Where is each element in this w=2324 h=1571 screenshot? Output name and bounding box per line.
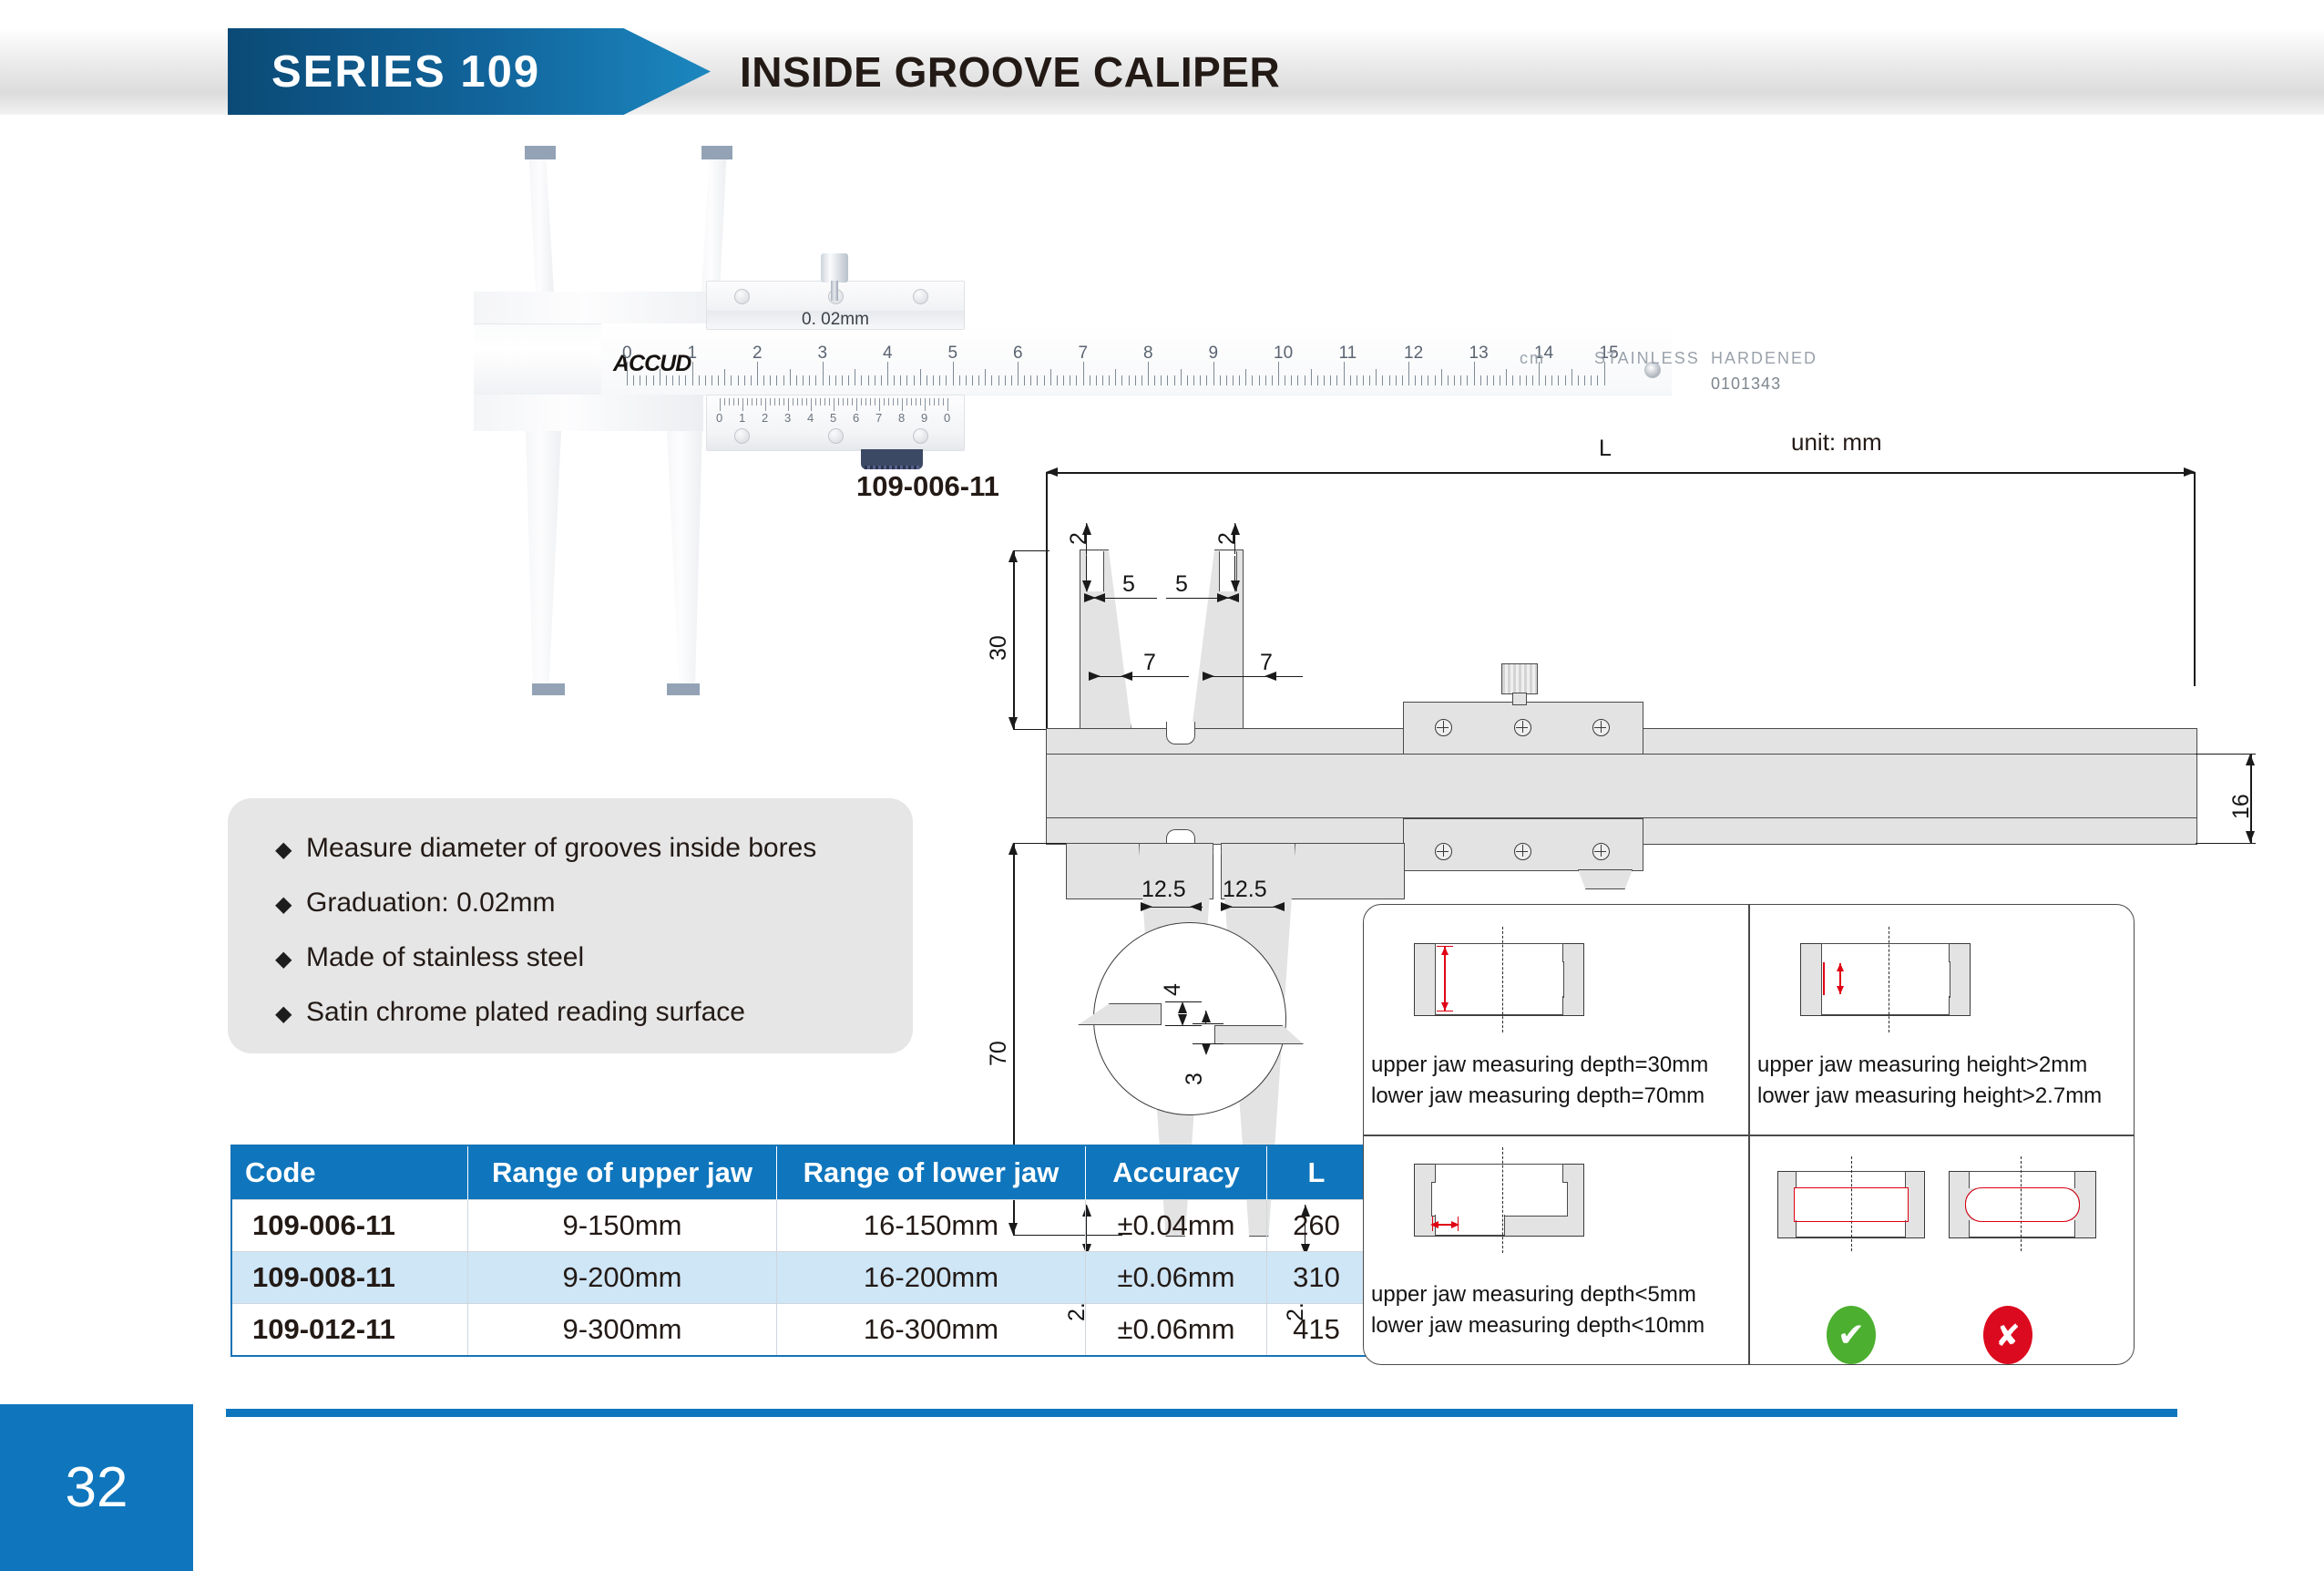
scale-tick [823,362,824,385]
scale-tick [959,375,960,385]
scale-number: 13 [1469,344,1489,364]
vernier-tick [729,398,730,406]
bullet-diamond-icon: ◆ [275,891,306,918]
vernier-tick [888,398,889,406]
feature-item: ◆Graduation: 0.02mm [275,888,555,919]
dim-2-left: 2 [1066,532,1092,545]
scale-tick [1305,375,1305,385]
vernier-tick [906,398,907,406]
usage-caption: lower jaw measuring depth=70mm [1371,1083,1705,1109]
scale-tick [946,375,947,385]
vernier-tick [788,398,789,411]
scale-tick [1200,375,1201,385]
vernier-tick [747,398,748,406]
main-scale: ACCUD 0123456789101112131415cmSTAINLESSH… [601,323,1672,395]
vernier-tick [856,398,857,411]
scale-tick [1220,375,1221,385]
scale-tick [1415,375,1416,385]
scale-tick [783,375,784,385]
material-marking: STAINLESS [1594,349,1700,368]
vernier-number: 8 [898,411,905,425]
lower-jaw-bridge [474,395,703,431]
scale-tick [653,375,654,385]
scale-tick [1435,375,1436,385]
cell-L: 415 [1267,1304,1367,1357]
vernier-tick [911,398,912,406]
vernier-tick [797,398,798,406]
scale-tick [1154,375,1155,385]
vernier-tick [879,398,880,411]
scale-tick [991,375,992,385]
scale-tick [718,375,719,385]
thumb-wheel[interactable] [821,253,848,282]
scale-tick [815,375,816,385]
scale-tick [914,375,915,385]
scale-tick [978,375,979,385]
scale-tick [738,375,739,385]
vernier-number: 7 [875,411,882,425]
scale-tick [1467,375,1468,385]
scale-tick [1480,375,1481,385]
usage-cell-height: upper jaw measuring height>2mm lower jaw… [1750,905,2135,1135]
vernier-tick [742,398,743,411]
scale-tick [1291,375,1292,385]
feature-label: Measure diameter of grooves inside bores [306,833,816,863]
lower-jaw-right-tip [667,683,700,695]
slider-screw [734,428,750,444]
vernier-tick [843,398,844,406]
depth-nub [861,449,923,469]
scale-tick [1597,375,1598,385]
vernier-tick [938,398,939,406]
col-upper-jaw: Range of upper jaw [468,1145,777,1200]
scale-tick [1330,375,1331,385]
vernier-tick [925,398,926,411]
feature-item: ◆Made of stainless steel [275,942,584,973]
vernier-tick [770,398,771,406]
vernier-tick [861,398,862,406]
scale-tick [887,362,888,385]
depth-nub-drawing [1578,869,1633,889]
vernier-tick [934,398,935,406]
scale-tick [835,375,836,385]
thumb-wheel-drawing [1501,663,1538,694]
scale-tick [685,375,686,385]
vernier-tick [875,398,875,406]
vernier-tick [783,398,784,406]
vernier-tick [920,398,921,406]
dim-5-right: 5 [1175,571,1188,598]
cell-upper-jaw: 9-200mm [468,1252,777,1304]
scale-tick [1350,375,1351,385]
cell-code: 109-006-11 [231,1200,468,1252]
vernier-tick [824,398,825,406]
scale-tick [1024,375,1025,385]
dim-4: 4 [1160,983,1186,996]
dim-30: 30 [986,635,1012,661]
scale-tick [1285,375,1285,385]
scale-tick [933,375,934,385]
scale-number: 7 [1079,344,1089,364]
scale-tick [1018,362,1019,385]
slider-screw [913,428,928,444]
scale-tick [1259,375,1260,385]
slider-screw [734,289,750,304]
scale-tick [1011,375,1012,385]
dim-L: L [1599,436,1612,462]
scale-tick [751,375,752,385]
scale-tick [1213,362,1214,385]
scale-number: 2 [752,344,763,364]
scale-tick [1096,375,1097,385]
table-header-row: Code Range of upper jaw Range of lower j… [231,1145,1367,1200]
scale-tick [1070,375,1070,385]
scale-tick [1324,375,1325,385]
vernier-tick [852,398,853,406]
scale-tick [848,375,849,385]
vernier-tick [916,398,916,406]
scale-tick [1454,375,1455,385]
scale-tick [1520,375,1520,385]
page-number-box: 32 [0,1404,193,1571]
dim-2-right: 2 [1214,532,1241,545]
scale-tick [966,375,967,385]
scale-tick [1297,375,1298,385]
vernier-tick [943,398,944,406]
page-title: INSIDE GROOVE CALIPER [740,47,1280,97]
dim-16: 16 [2228,794,2255,819]
usage-cell-depth: upper jaw measuring depth=30mm lower jaw… [1364,905,1748,1135]
vernier-number: 0 [716,411,722,425]
bullet-diamond-icon: ◆ [275,1001,306,1027]
scale-number: 1 [688,344,698,364]
feature-label: Made of stainless steel [306,942,584,972]
scale-tick [1252,375,1253,385]
scale-tick [724,369,725,385]
vernier-number: 2 [762,411,768,425]
vernier-tick [893,398,894,406]
usage-notes-panel: upper jaw measuring depth=30mm lower jaw… [1363,904,2135,1365]
scale-tick [1167,375,1168,385]
scale-tick [1376,369,1377,385]
col-code: Code [231,1145,468,1200]
dim-line-L [1046,472,2196,474]
graduation-marking: 0. 02mm [707,310,964,330]
vernier-tick [779,398,780,406]
table-row: 109-008-11 9-200mm 16-200mm ±0.06mm 310 [231,1252,1367,1304]
scale-number: 8 [1143,344,1153,364]
scale-tick [1057,375,1058,385]
vernier-number: 6 [853,411,859,425]
table-row: 109-012-11 9-300mm 16-300mm ±0.06mm 415 [231,1304,1367,1357]
usage-caption: upper jaw measuring depth=30mm [1371,1052,1708,1078]
vernier-tick [720,398,721,411]
cell-L: 260 [1267,1200,1367,1252]
vernier-tick [756,398,757,406]
footer-rule [226,1409,2177,1417]
scale-tick [1408,362,1409,385]
usage-caption: upper jaw measuring height>2mm [1757,1052,2087,1078]
feature-label: Satin chrome plated reading surface [306,997,745,1027]
dim-7-left: 7 [1143,650,1156,676]
scale-tick [1193,375,1194,385]
scale-tick [1030,375,1031,385]
scale-tick [900,375,901,385]
col-L: L [1267,1145,1367,1200]
scale-tick [1278,362,1279,385]
scale-tick [731,375,732,385]
scale-tick [1591,375,1592,385]
scale-tick [1265,375,1266,385]
scale-tick [1532,375,1533,385]
upper-jaw-left-tip [525,146,556,159]
table-row: 109-006-11 9-150mm 16-150mm ±0.04mm 260 [231,1200,1367,1252]
scale-tick [1050,369,1051,385]
cell-lower-jaw: 16-200mm [777,1252,1086,1304]
usage-cell-shallow: upper jaw measuring depth<5mm lower jaw … [1364,1136,1748,1366]
scale-tick [1226,375,1227,385]
scale-tick [829,375,830,385]
vernier-tick [774,398,775,406]
vernier-number: 3 [784,411,791,425]
scale-number: 6 [1013,344,1023,364]
vernier-tick [811,398,812,411]
vernier-tick [902,398,903,411]
series-banner: SERIES 109 [228,28,711,115]
vernier-tick [733,398,734,406]
vernier-tick [884,398,885,406]
scale-tick [712,375,712,385]
scale-tick [1545,375,1546,385]
scale-tick [1493,375,1494,385]
scale-tick [1044,375,1045,385]
col-accuracy: Accuracy [1086,1145,1267,1200]
scale-number: 9 [1209,344,1219,364]
detail-view-circle: 4 3 [1093,922,1286,1115]
vernier-tick [947,398,948,411]
feature-label: Graduation: 0.02mm [306,888,555,918]
scale-number: 10 [1274,344,1293,364]
scale-tick [699,375,700,385]
scale-tick [972,375,973,385]
page-number: 32 [0,1404,193,1571]
serial-number: 0101343 [1711,375,1781,394]
slider-screw [913,289,928,304]
feature-item: ◆Satin chrome plated reading surface [275,997,745,1028]
vernier-tick [738,398,739,406]
lower-jaw-right [665,395,703,695]
series-label: SERIES 109 [228,46,540,98]
col-lower-jaw: Range of lower jaw [777,1145,1086,1200]
scale-tick [1389,375,1390,385]
vernier-slider-bottom: 01234567890 [706,395,965,451]
scale-tick [1526,375,1527,385]
lower-jaw-left-tip [532,683,565,695]
model-label: 109-006-11 [856,470,999,503]
scale-tick [666,375,667,385]
scale-tick [1369,375,1370,385]
scale-tick [705,375,706,385]
scale-tick [927,375,927,385]
scale-tick [1245,369,1246,385]
scale-tick [868,375,869,385]
scale-tick [1076,375,1077,385]
scale-tick [627,362,628,385]
beam-notch-top [1166,722,1195,744]
scale-tick [861,375,862,385]
scale-tick [1506,369,1507,385]
treatment-marking: HARDENED [1711,349,1817,368]
cell-L: 310 [1267,1252,1367,1304]
scale-tick [1441,369,1442,385]
vernier-number: 9 [921,411,927,425]
scale-tick [842,375,843,385]
scale-tick [1142,375,1142,385]
scale-tick [881,375,882,385]
cell-lower-jaw: 16-300mm [777,1304,1086,1357]
unit-marking: cm [1520,349,1545,368]
bullet-diamond-icon: ◆ [275,837,306,863]
scale-tick [1063,375,1064,385]
dim-7-right: 7 [1260,650,1273,676]
scale-tick [1460,375,1461,385]
scale-tick [1558,375,1559,385]
dim-12.5-left: 12.5 [1142,877,1186,903]
vernier-tick [834,398,834,411]
scale-tick [906,375,907,385]
vernier-tick [829,398,830,406]
scale-tick [1311,369,1312,385]
slider-screw [828,428,844,444]
vernier-tick [802,398,803,406]
scale-tick [744,375,745,385]
scale-tick [1344,362,1345,385]
vernier-number: 5 [830,411,836,425]
scale-tick [1102,375,1103,385]
scale-number: 4 [883,344,893,364]
vernier-tick [765,398,766,411]
scale-tick [985,369,986,385]
lower-jaw-left [525,395,563,695]
scale-tick [1487,375,1488,385]
scale-tick [646,375,647,385]
feature-item: ◆Measure diameter of grooves inside bore… [275,833,816,864]
cell-code: 109-008-11 [231,1252,468,1304]
vernier-tick [815,398,816,406]
scale-tick [776,375,777,385]
scale-tick [1161,375,1162,385]
cell-lower-jaw: 16-150mm [777,1200,1086,1252]
vernier-number: 0 [944,411,950,425]
scale-tick [1206,375,1207,385]
cell-upper-jaw: 9-150mm [468,1200,777,1252]
scale-tick [640,375,640,385]
scale-tick [1005,375,1006,385]
scale-tick [1239,375,1240,385]
scale-tick [1382,375,1383,385]
usage-caption: lower jaw measuring height>2.7mm [1757,1083,2102,1109]
bullet-diamond-icon: ◆ [275,946,306,972]
vernier-tick [847,398,848,406]
scale-tick [1572,369,1572,385]
scale-tick [1037,375,1038,385]
scale-tick [1181,369,1182,385]
scale-tick [1363,375,1364,385]
cross-icon: ✘ [1983,1306,2032,1364]
scale-tick [894,375,895,385]
dim-12.5-right: 12.5 [1223,877,1267,903]
vernier-tick [752,398,752,406]
scale-tick [939,375,940,385]
vernier-tick [820,398,821,406]
scale-tick [672,375,673,385]
scale-tick [763,375,764,385]
vernier-tick [870,398,871,406]
scale-tick [1421,375,1422,385]
scale-tick [1357,375,1357,385]
scale-tick [1578,375,1579,385]
scale-tick [1109,375,1110,385]
scale-tick [1565,375,1566,385]
cell-upper-jaw: 9-300mm [468,1304,777,1357]
scale-tick [757,362,758,385]
scale-tick [1233,375,1234,385]
scale-tick [1174,375,1175,385]
check-icon: ✔ [1827,1306,1876,1364]
scale-tick [875,375,875,385]
cell-accuracy: ±0.04mm [1086,1200,1267,1252]
scale-tick [692,362,693,385]
scale-tick [953,362,954,385]
scale-tick [1500,375,1500,385]
scale-tick [998,375,999,385]
scale-tick [920,369,921,385]
scale-tick [1317,375,1318,385]
scale-tick [790,369,791,385]
vernier-number: 4 [807,411,814,425]
scale-tick [1121,375,1122,385]
vernier-tick [724,398,725,406]
vernier-tick [761,398,762,406]
scale-tick [1474,362,1475,385]
vernier-tick [929,398,930,406]
scale-tick [1551,375,1552,385]
scale-tick [679,375,680,385]
beam-core [1046,754,2197,819]
scale-tick [1148,362,1149,385]
scale-tick [1512,375,1513,385]
scale-number: 11 [1339,344,1357,364]
scale-tick [1272,375,1273,385]
scale-number: 5 [948,344,958,364]
dim-70: 70 [986,1041,1012,1066]
scale-tick [796,375,797,385]
dim-5-left: 5 [1122,571,1135,598]
vernier-tick [838,398,839,406]
scale-tick [1135,375,1136,385]
vernier-number: 1 [739,411,745,425]
scale-number: 3 [818,344,828,364]
scale-tick [1187,375,1188,385]
scale-tick [1428,375,1428,385]
scale-number: 0 [622,344,632,364]
upper-jaw-right-tip [701,146,732,159]
scale-tick [803,375,804,385]
scale-tick [855,369,855,385]
scale-tick [1336,375,1337,385]
vernier-tick [793,398,793,406]
scale-tick [1090,375,1090,385]
